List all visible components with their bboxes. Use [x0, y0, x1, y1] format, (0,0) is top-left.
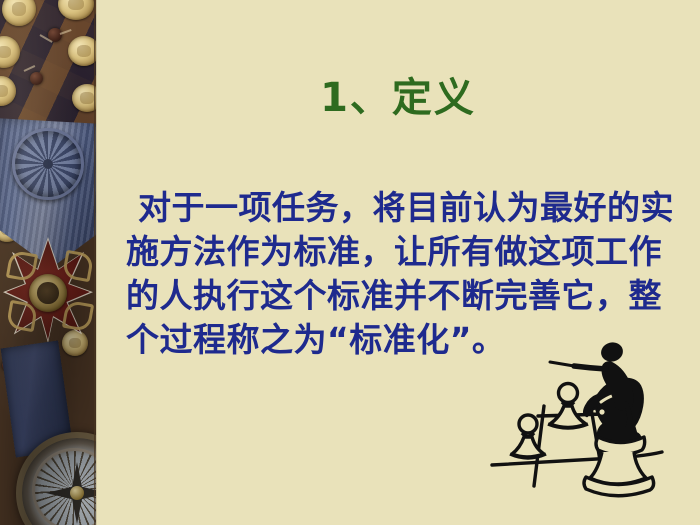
button-coin-icon — [72, 84, 96, 112]
body-line: 的人执行这个标准并不断完善它，整 — [126, 274, 672, 318]
slide-title: 1、定义 — [96, 76, 700, 120]
button-coin-icon — [68, 36, 96, 66]
compass-hub — [70, 486, 84, 500]
ribbon-rosette — [12, 128, 84, 200]
chess-illustration — [486, 336, 686, 511]
pawn-middle — [548, 384, 588, 429]
body-line: 施方法作为标准，让所有做这项工作 — [126, 230, 672, 274]
body-line: 对于一项任务，将目前认为最好的实 — [126, 186, 672, 230]
maltese-cross-medal — [2, 236, 94, 348]
medal-center-medallion — [29, 274, 67, 312]
stud-icon — [30, 72, 43, 85]
slide-canvas: 1、定义 对于一项任务，将目前认为最好的实 施方法作为标准，让所有做这项工作 的… — [0, 0, 700, 525]
compass-bezel — [32, 448, 96, 525]
left-photo-strip — [0, 0, 96, 525]
